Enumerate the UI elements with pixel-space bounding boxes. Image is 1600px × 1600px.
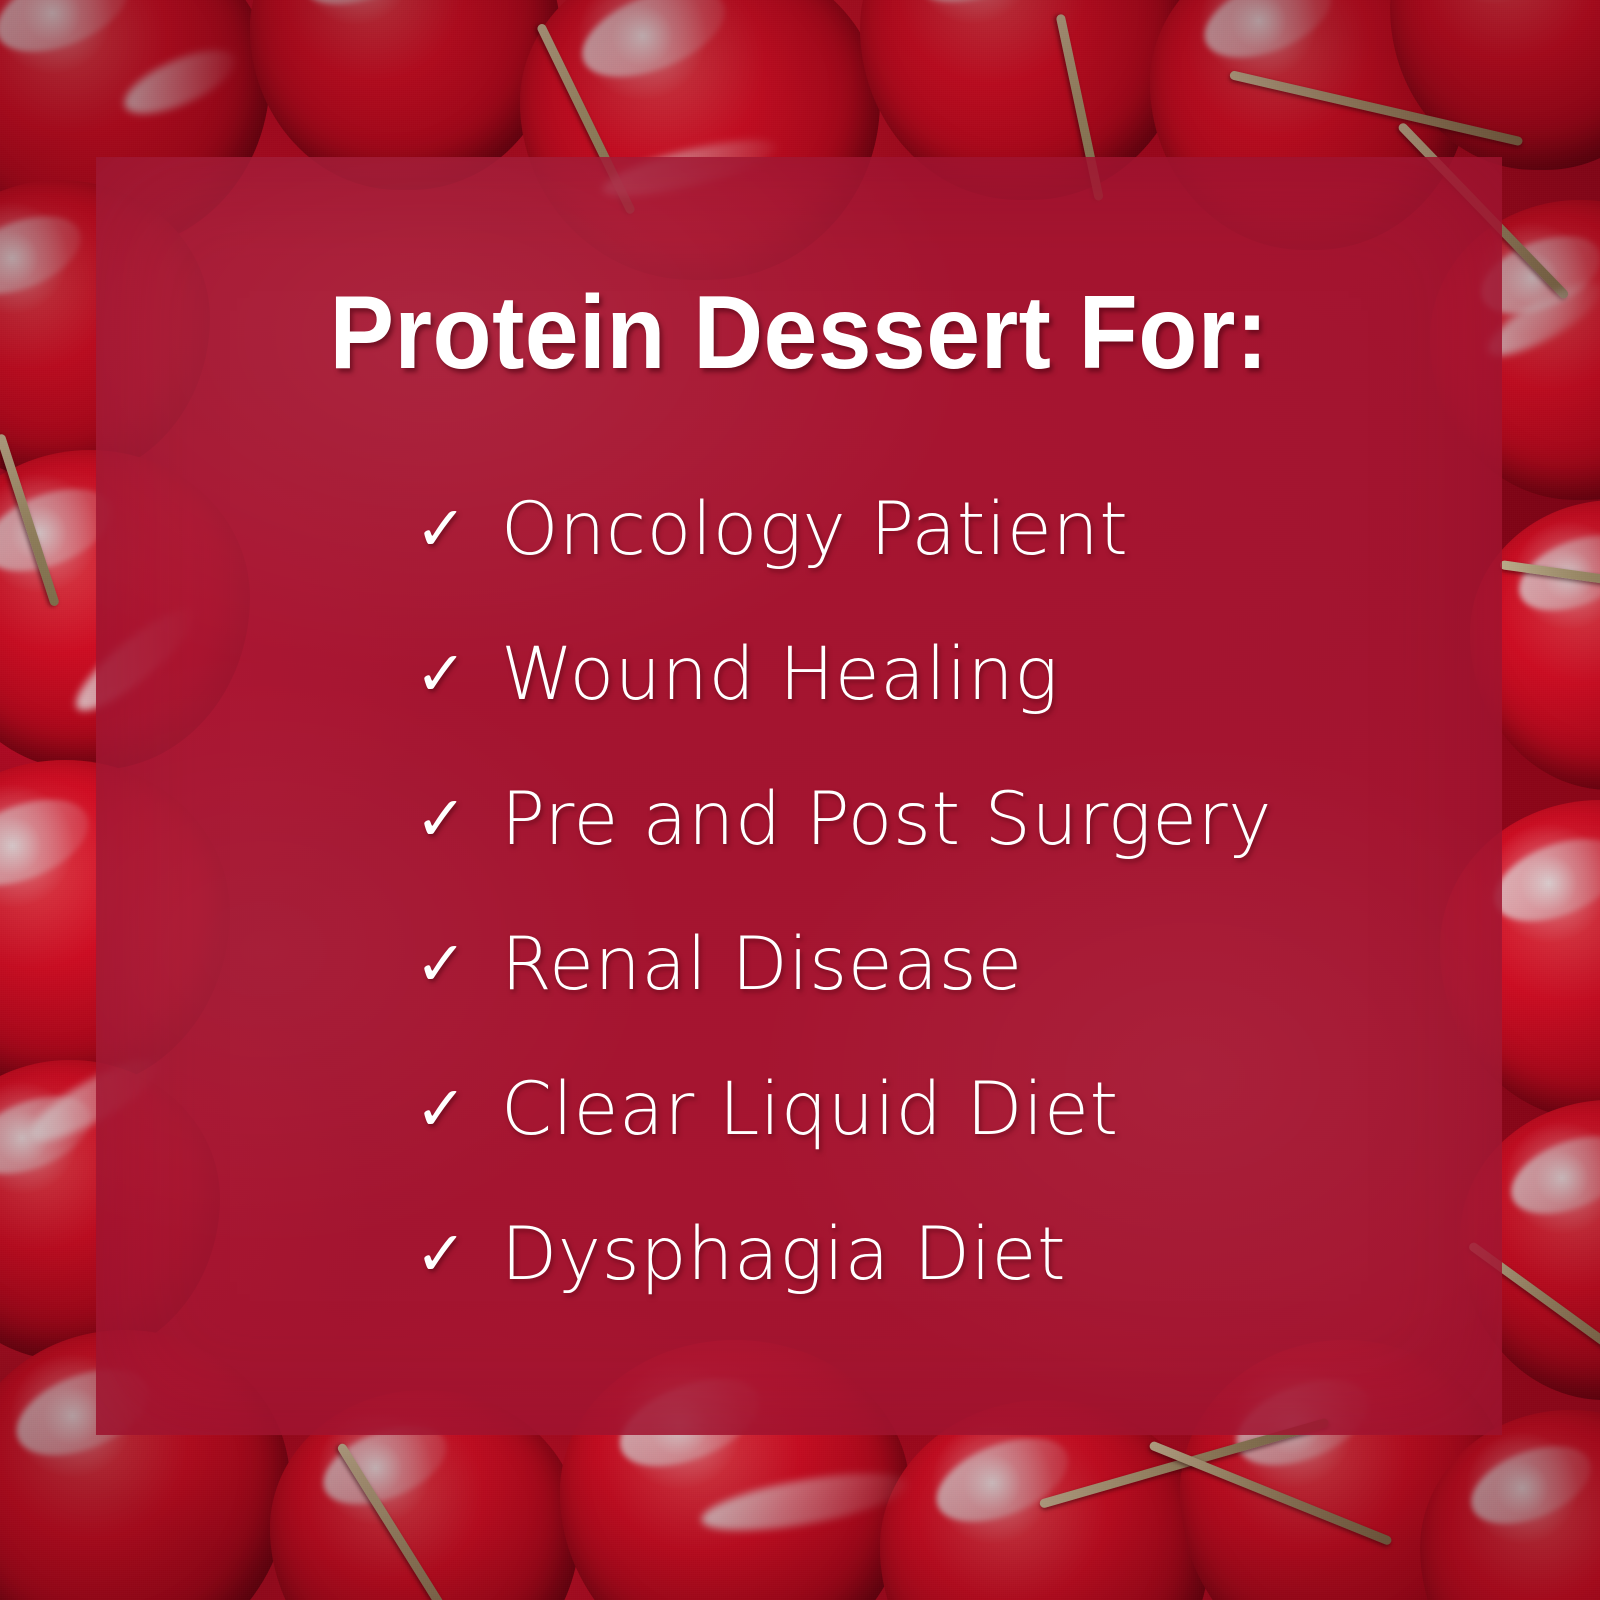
benefits-checklist: ✓ Oncology Patient ✓ Wound Healing ✓ Pre… [409,457,1462,1327]
list-item-label: Renal Disease [501,926,1023,1003]
list-item: ✓ Oncology Patient [409,457,1462,602]
list-item: ✓ Renal Disease [409,892,1462,1037]
list-item-label: Oncology Patient [501,491,1128,568]
check-mark-icon: ✓ [409,644,501,706]
list-item-label: Wound Healing [501,636,1059,713]
list-item: ✓ Clear Liquid Diet [409,1037,1462,1182]
content-overlay-panel: Protein Dessert For: ✓ Oncology Patient … [96,157,1502,1435]
promo-graphic: Protein Dessert For: ✓ Oncology Patient … [0,0,1600,1600]
check-mark-icon: ✓ [409,789,501,851]
list-item: ✓ Dysphagia Diet [409,1182,1462,1327]
check-mark-icon: ✓ [409,1079,501,1141]
list-item-label: Dysphagia Diet [501,1216,1066,1293]
check-mark-icon: ✓ [409,934,501,996]
page-title: Protein Dessert For: [145,281,1453,385]
check-mark-icon: ✓ [409,1224,501,1286]
list-item: ✓ Wound Healing [409,602,1462,747]
list-item-label: Pre and Post Surgery [501,781,1272,858]
check-mark-icon: ✓ [409,499,501,561]
list-item: ✓ Pre and Post Surgery [409,747,1462,892]
list-item-label: Clear Liquid Diet [501,1071,1119,1148]
panel-content: Protein Dessert For: ✓ Oncology Patient … [96,157,1502,1435]
